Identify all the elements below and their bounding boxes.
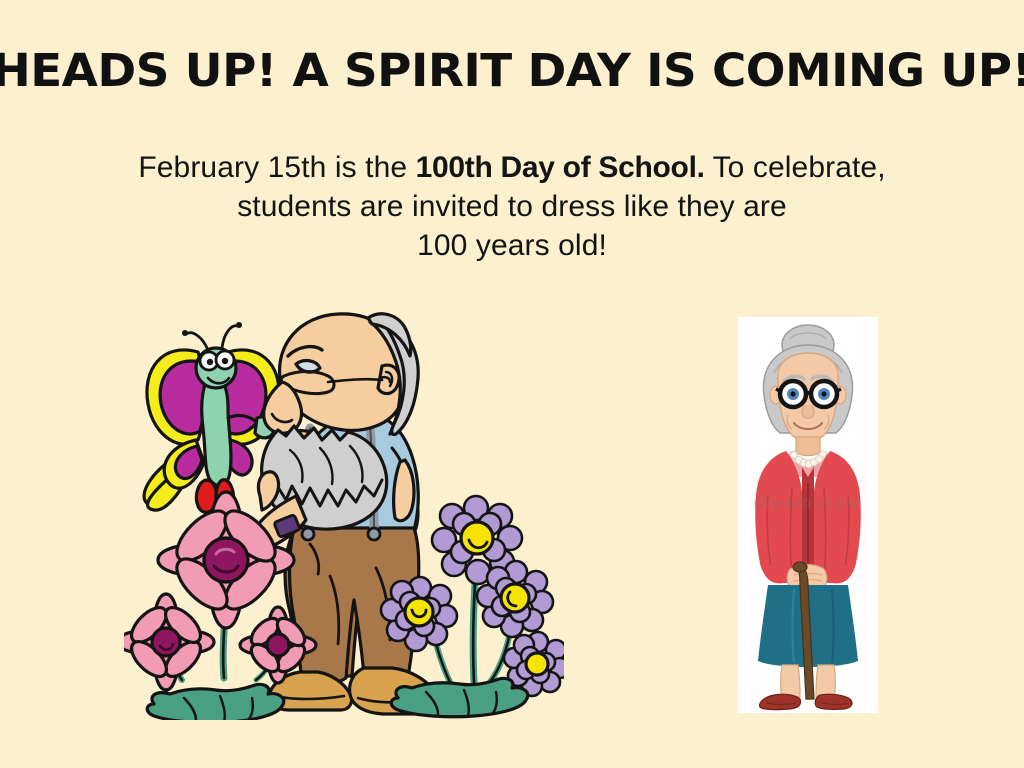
page-title: HEADS UP! A SPIRIT DAY IS COMING UP! [0,44,1024,98]
pink-flower-medium [124,594,214,690]
old-man-clipart [124,300,564,720]
old-woman-illustration [738,317,878,713]
body-line-2: students are invited to dress like they … [62,187,962,226]
old-woman-photo-panel: dreamstime [738,317,878,713]
body-copy: February 15th is the 100th Day of School… [62,148,962,265]
purple-mum-right [477,561,553,637]
body-line-1: February 15th is the 100th Day of School… [62,148,962,187]
body-line-1-emphasis: 100th Day of School. [416,151,705,184]
body-line-1-lead: February 15th is the [138,151,415,184]
old-man-illustration [124,300,564,720]
purple-mum-left [381,577,457,651]
slide-canvas: HEADS UP! A SPIRIT DAY IS COMING UP! Feb… [0,0,1024,768]
body-line-1-tail: To celebrate, [705,151,886,184]
body-line-3: 100 years old! [62,226,962,265]
